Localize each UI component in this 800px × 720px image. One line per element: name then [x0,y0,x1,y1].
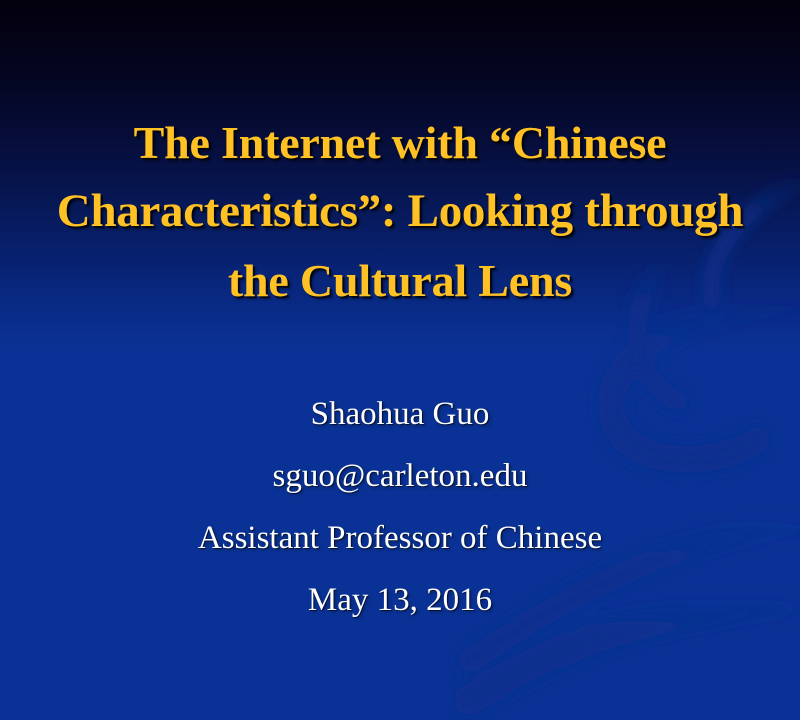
presenter-affiliation: Assistant Professor of Chinese [0,507,800,569]
slide-subtitle: Shaohua Guo sguo@carleton.edu Assistant … [0,383,800,631]
title-line-2: Characteristics”: Looking through [0,177,800,246]
slide-title: The Internet with “Chinese Characteristi… [0,108,800,315]
presenter-name: Shaohua Guo [0,383,800,445]
presentation-date: May 13, 2016 [0,569,800,631]
title-slide: The Internet with “Chinese Characteristi… [0,0,800,720]
presenter-email: sguo@carleton.edu [0,445,800,507]
title-line-3: the Cultural Lens [0,246,800,315]
title-line-1: The Internet with “Chinese [0,108,800,177]
